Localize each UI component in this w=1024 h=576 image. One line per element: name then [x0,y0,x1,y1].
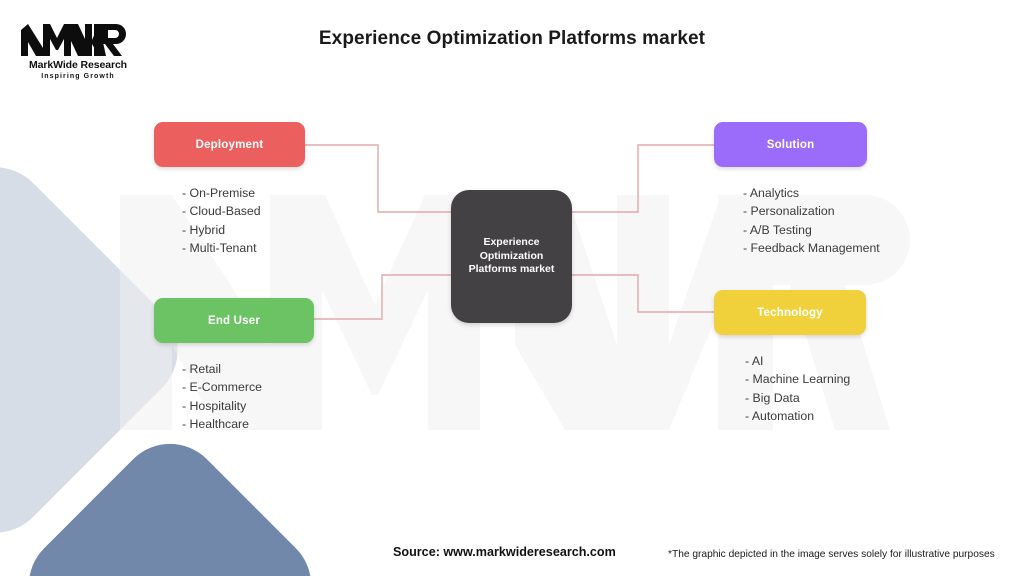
branch-enduser-label: End User [208,315,260,327]
center-node[interactable]: Experience Optimization Platforms market [451,190,572,323]
footer-disclaimer: *The graphic depicted in the image serve… [668,549,995,560]
branch-deployment-label: Deployment [196,139,264,151]
center-node-line-1: Experience [483,236,539,248]
list-item: - Healthcare [182,415,314,433]
list-item: - On-Premise [182,184,305,202]
branch-enduser-list: - Retail - E-Commerce - Hospitality - He… [154,360,314,433]
list-item: - Big Data [745,389,866,407]
list-item: - Automation [745,407,866,425]
infographic-canvas: MarkWide Research Inspiring Growth Exper… [0,0,1024,576]
list-item: - A/B Testing [743,221,880,239]
branch-deployment-pill[interactable]: Deployment [154,122,305,167]
list-item: - Personalization [743,202,880,220]
list-item: - Analytics [743,184,880,202]
connector-solution [572,145,714,212]
branch-technology-pill[interactable]: Technology [714,290,866,335]
list-item: - Hybrid [182,221,305,239]
branch-technology: Technology - AI - Machine Learning - Big… [714,290,866,425]
center-node-line-2: Optimization [480,250,544,262]
list-item: - Feedback Management [743,239,880,257]
connector-enduser [314,275,451,319]
branch-solution-list: - Analytics - Personalization - A/B Test… [714,184,880,257]
center-node-label: Experience Optimization Platforms market [461,236,563,277]
list-item: - Cloud-Based [182,202,305,220]
branch-technology-label: Technology [757,307,823,319]
branch-technology-list: - AI - Machine Learning - Big Data - Aut… [714,352,866,425]
branch-enduser: End User - Retail - E-Commerce - Hospita… [154,298,314,433]
list-item: - Multi-Tenant [182,239,305,257]
list-item: - AI [745,352,866,370]
list-item: - E-Commerce [182,378,314,396]
branch-deployment-list: - On-Premise - Cloud-Based - Hybrid - Mu… [154,184,305,257]
center-node-line-3: Platforms market [469,263,555,275]
branch-solution-pill[interactable]: Solution [714,122,867,167]
list-item: - Hospitality [182,397,314,415]
list-item: - Retail [182,360,314,378]
branch-deployment: Deployment - On-Premise - Cloud-Based - … [154,122,305,257]
footer-source: Source: www.markwideresearch.com [393,545,616,559]
connector-technology [572,275,714,312]
connector-deployment [305,145,451,212]
branch-solution-label: Solution [767,139,815,151]
branch-solution: Solution - Analytics - Personalization -… [714,122,880,257]
branch-enduser-pill[interactable]: End User [154,298,314,343]
list-item: - Machine Learning [745,370,866,388]
